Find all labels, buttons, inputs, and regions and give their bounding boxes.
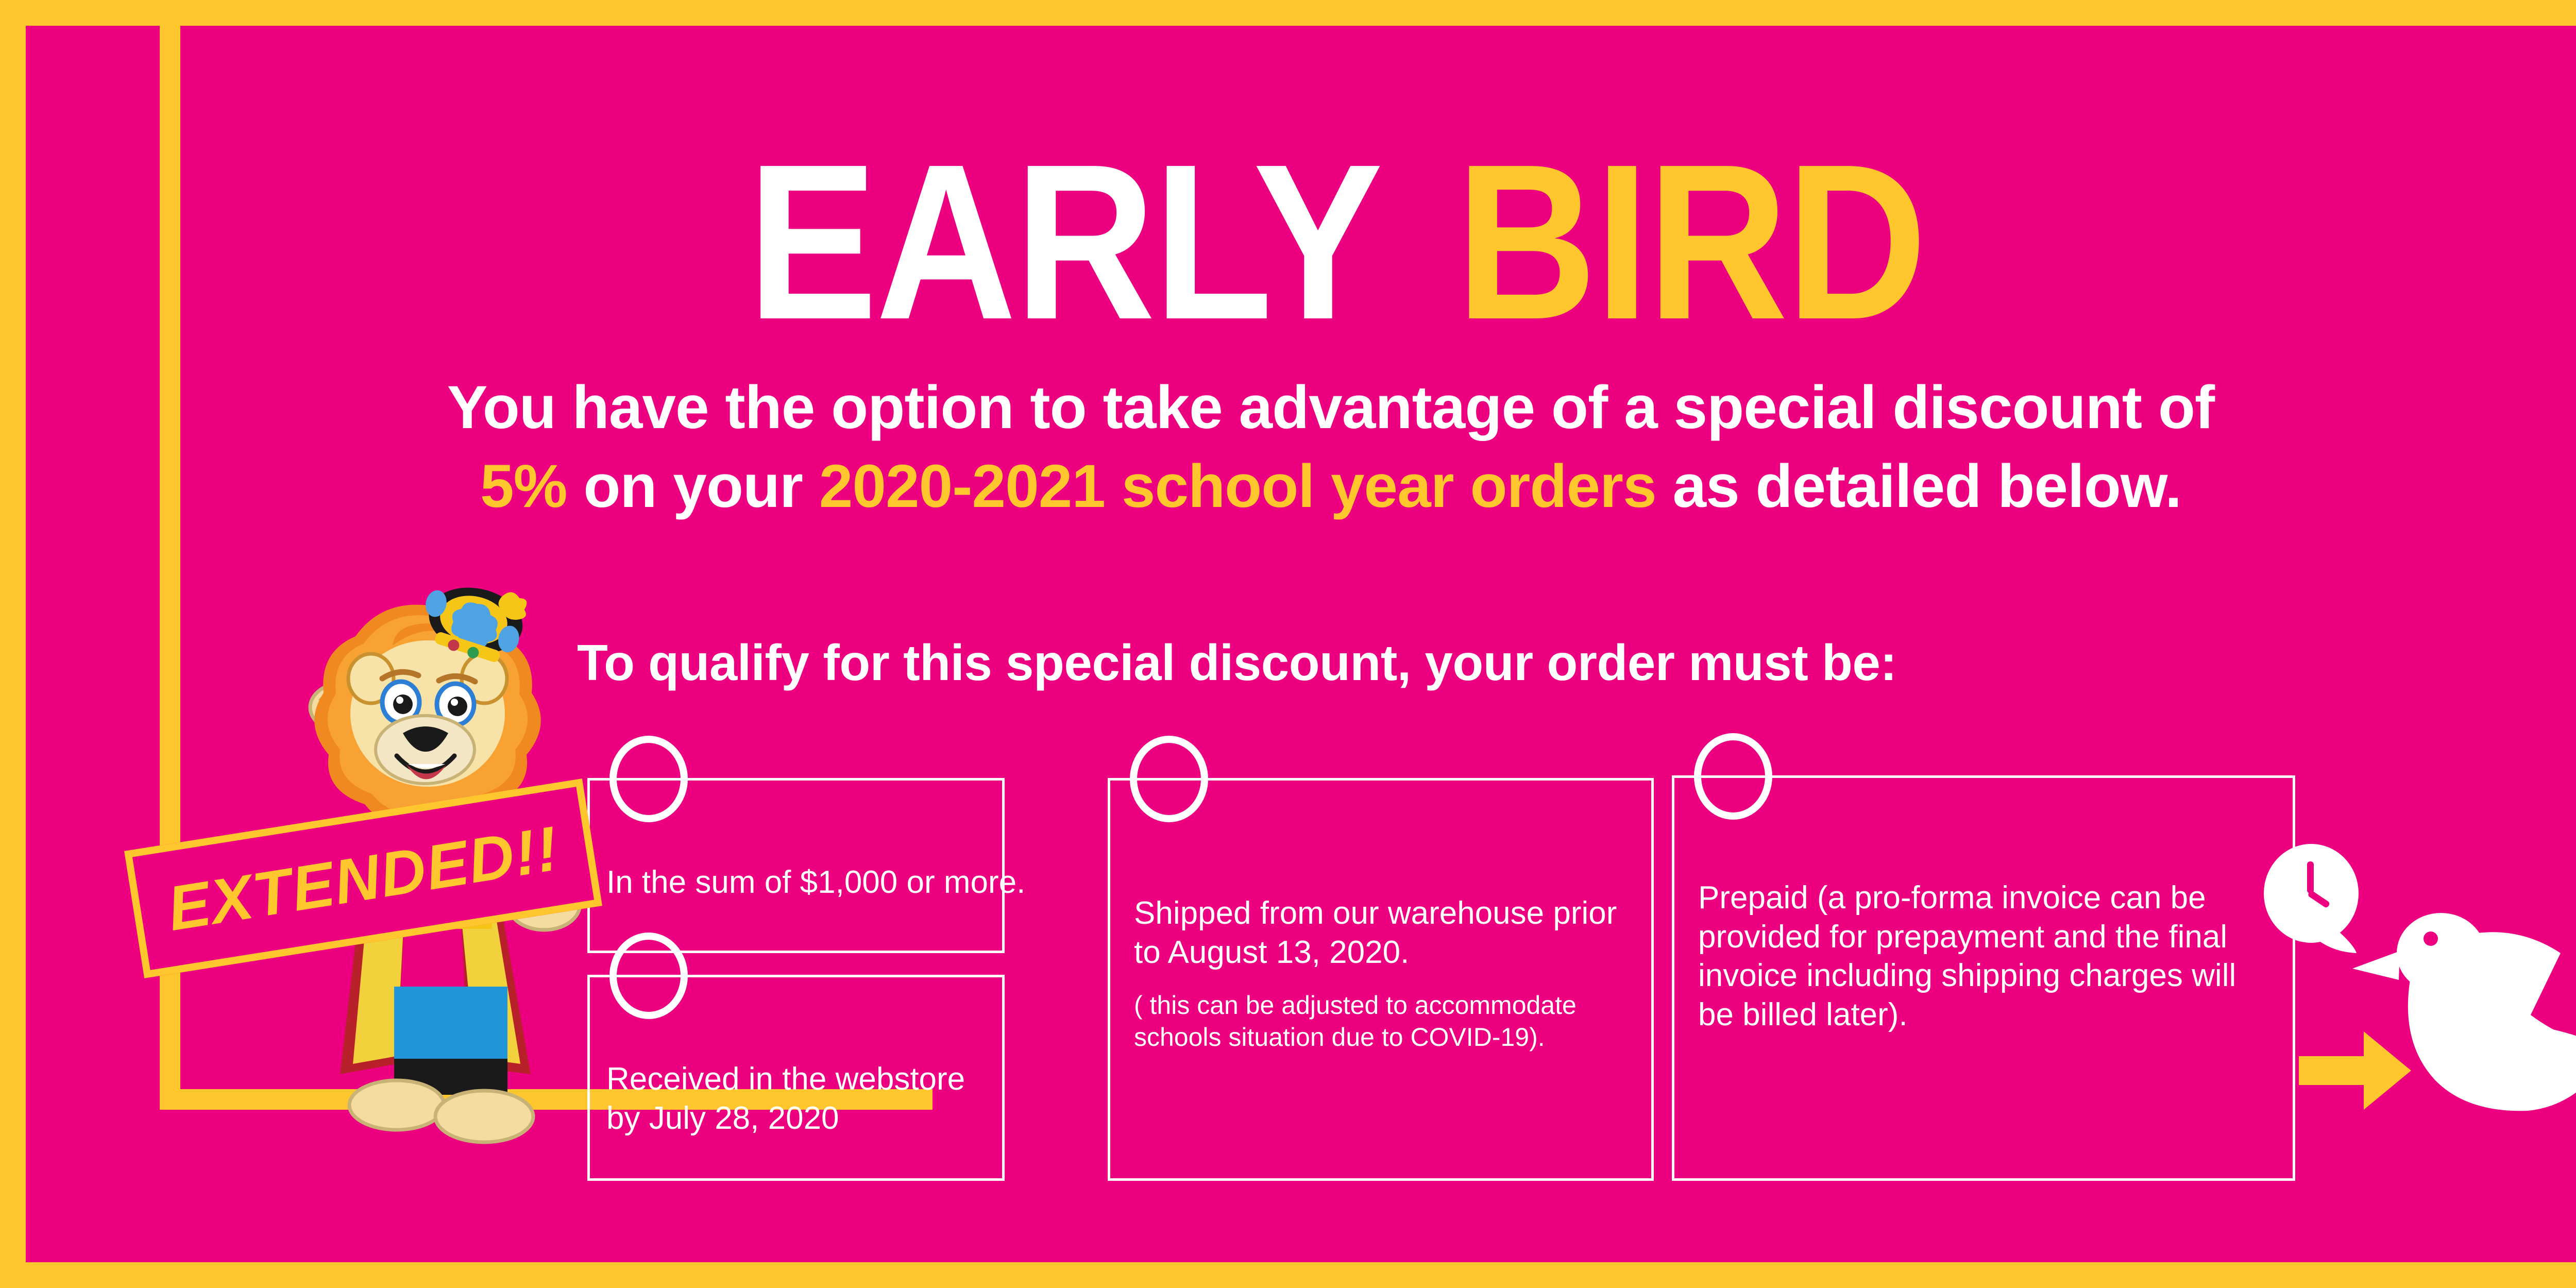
subtitle-line-2: 5% on your 2020-2021 school year orders … (0, 447, 2576, 526)
banner-title: EARLYBIRD (0, 131, 2576, 353)
school-year-orders: 2020-2021 school year orders (819, 452, 1656, 520)
title-word-early: EARLY (747, 131, 1381, 353)
discount-percent: 5% (480, 452, 567, 520)
condition-text-sum: In the sum of $1,000 or more. (606, 863, 1003, 902)
bullet-circle-icon (1130, 736, 1208, 822)
condition-text-prepaid: Prepaid (a pro-forma invoice can be prov… (1698, 878, 2278, 1035)
banner-subtitle: You have the option to take advantage of… (0, 368, 2576, 527)
condition-box-prepaid: Prepaid (a pro-forma invoice can be prov… (1672, 775, 2295, 1181)
bullet-circle-icon (609, 736, 688, 822)
condition-note-covid: ( this can be adjusted to accommodate sc… (1134, 989, 1639, 1053)
early-bird-illustration (2241, 799, 2576, 1118)
bullet-circle-icon (609, 933, 688, 1019)
clock-speech-bubble-icon (2264, 844, 2359, 953)
subtitle-line-1: You have the option to take advantage of… (0, 368, 2576, 447)
subtitle-mid: on your (567, 452, 819, 520)
condition-text-shipped: Shipped from our warehouse prior to Augu… (1134, 894, 1639, 972)
condition-box-shipped: Shipped from our warehouse prior to Augu… (1108, 778, 1654, 1181)
early-bird-banner: EARLYBIRD You have the option to take ad… (0, 0, 2576, 1288)
condition-text-webstore: Received in the webstore by July 28, 202… (606, 1060, 998, 1138)
title-word-bird: BIRD (1456, 131, 1925, 353)
qualify-heading: To qualify for this special discount, yo… (577, 634, 2226, 692)
bullet-circle-icon (1694, 733, 1772, 820)
arrow-right-icon (2299, 1031, 2411, 1110)
subtitle-end: as detailed below. (1656, 452, 2181, 520)
